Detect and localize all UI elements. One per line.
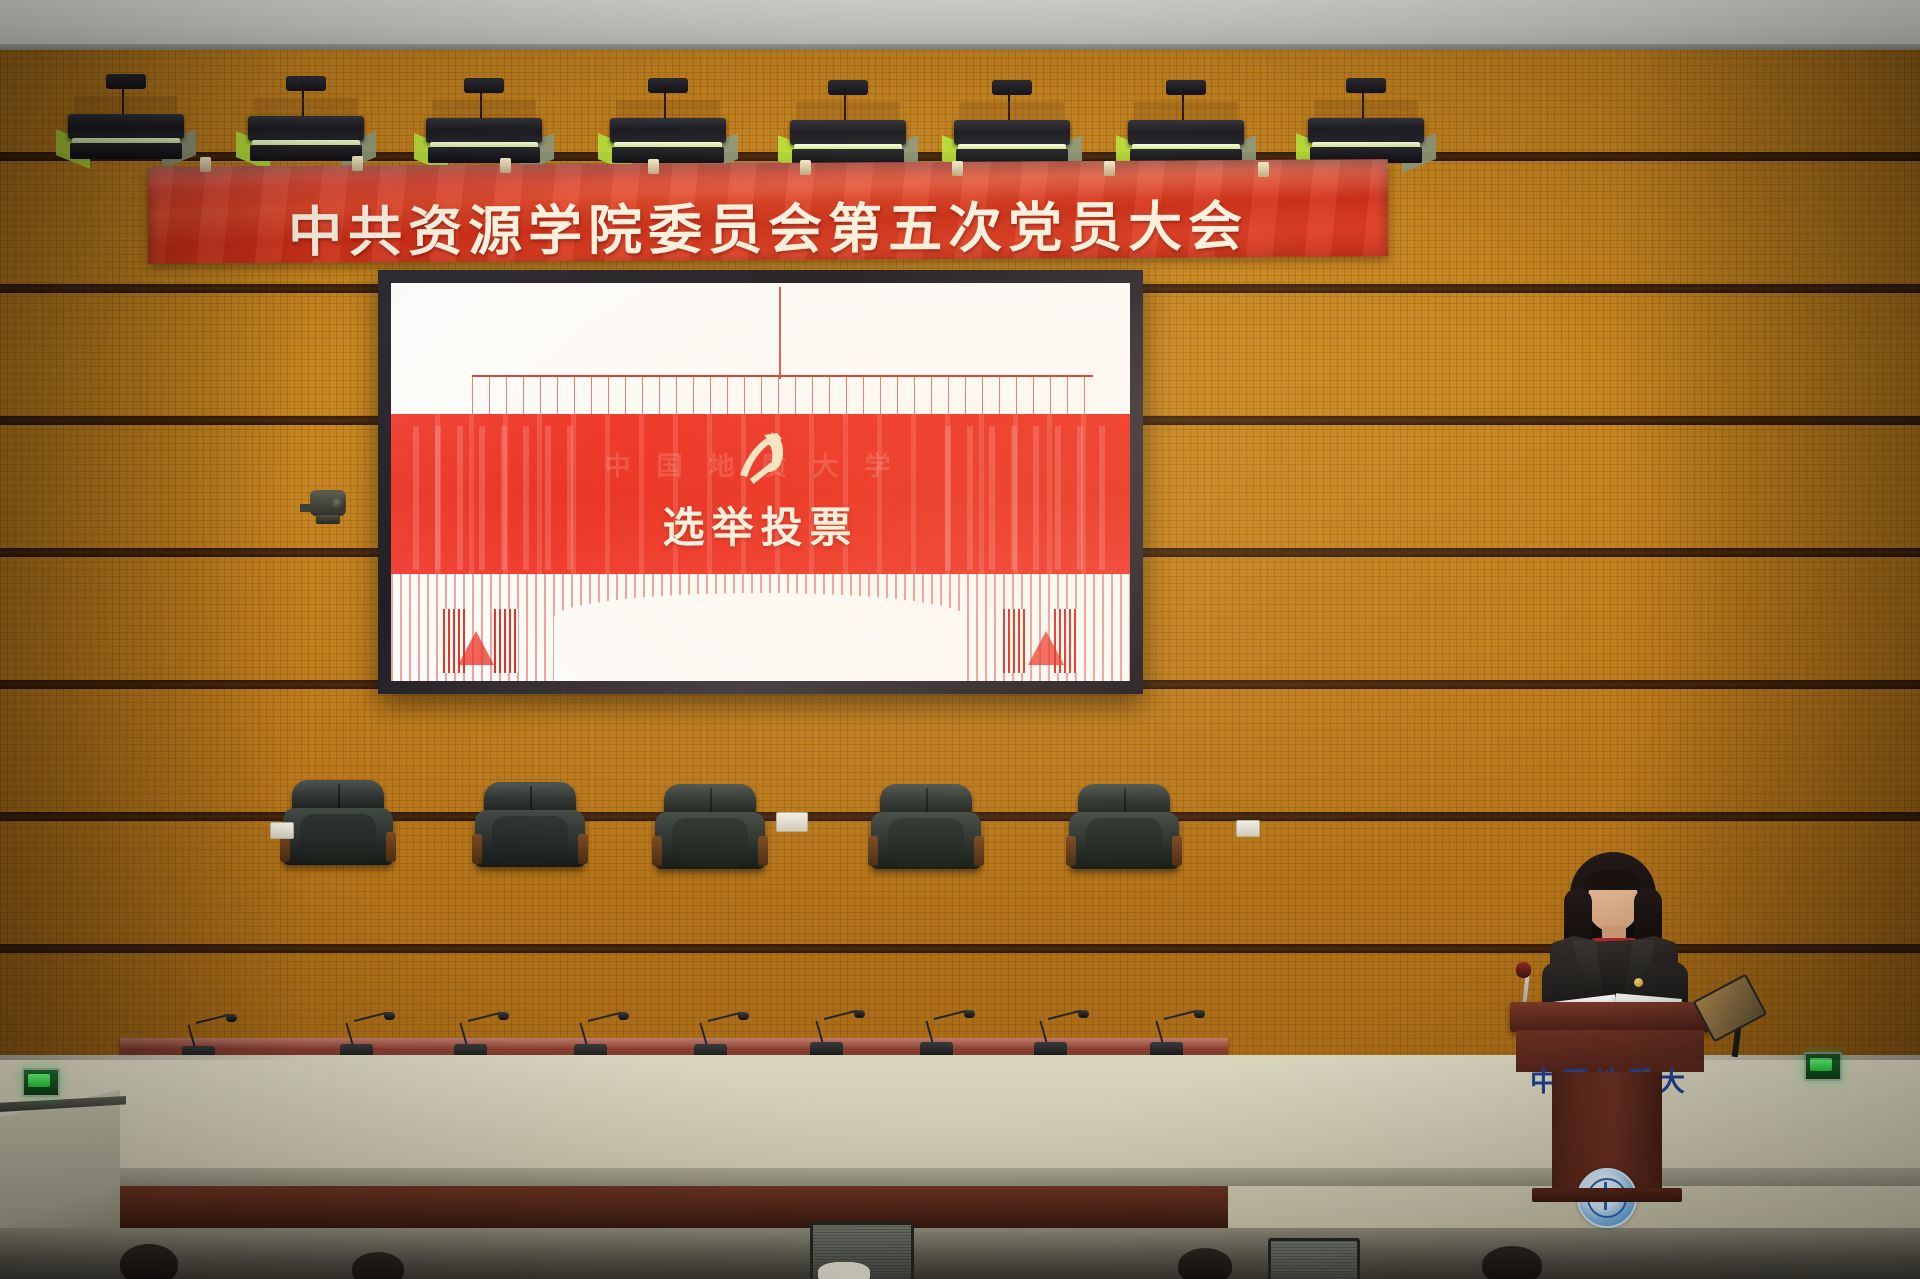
banner-clip [952, 161, 963, 176]
slide-cone [1028, 631, 1064, 665]
banner-clip [800, 160, 811, 175]
lectern-base [1532, 1188, 1682, 1202]
banner-clip [352, 156, 363, 171]
hammer-and-sickle-emblem [728, 428, 794, 484]
camera-base [316, 515, 340, 524]
executive-chair [650, 784, 770, 869]
stage-light-fixture [1126, 88, 1246, 160]
slide-plaza [554, 593, 968, 681]
stage-light-fixture [1306, 86, 1426, 158]
stage-light-fixture [608, 86, 728, 158]
wall-monitor [1700, 985, 1770, 1055]
exit-sign-glow [28, 1074, 50, 1087]
wall-outlet [270, 822, 294, 839]
audience-head [352, 1252, 404, 1279]
gooseneck-microphone [788, 1008, 862, 1060]
chair-arm [386, 832, 396, 862]
event-banner: 中共资源学院委员会第五次党员大会 [148, 159, 1389, 264]
light-underside [70, 143, 182, 159]
stage-light-fixture [66, 82, 186, 154]
speaker-fringe [1586, 870, 1640, 890]
camera-lens-icon [332, 497, 345, 510]
exit-sign-left [22, 1068, 60, 1097]
banner-clip [500, 158, 511, 173]
audience-monitor [1268, 1238, 1360, 1279]
slide-cone [458, 631, 494, 665]
audience-head [120, 1244, 178, 1279]
stage-light-fixture [788, 88, 908, 160]
ptz-camera [300, 490, 346, 524]
projection-screen-frame: 中国地质大学 选举投票 [378, 270, 1143, 694]
banner-clip [648, 159, 659, 174]
lectern-top [1510, 1002, 1710, 1032]
audience-paper [818, 1262, 870, 1279]
banner-clip [1258, 162, 1269, 177]
exit-sign-glow [1810, 1058, 1832, 1071]
chair-back-cushion [300, 814, 376, 862]
audience-head [1178, 1248, 1232, 1279]
stage-light-fixture [424, 86, 544, 158]
light-clamp [106, 74, 146, 89]
audience-head [1482, 1246, 1542, 1279]
slide-building-roofline [472, 375, 1093, 419]
mic-capsule [226, 1014, 237, 1022]
wall-outlet [776, 812, 808, 832]
podium-mic-head [1516, 962, 1531, 978]
executive-chair [866, 784, 986, 869]
gooseneck-microphone [1012, 1008, 1086, 1060]
executive-chair [470, 782, 590, 867]
banner-title: 中共资源学院委员会第五次党员大会 [148, 181, 1388, 268]
executive-chair [1064, 784, 1184, 869]
slide-pillar [494, 609, 518, 673]
mic-gooseneck [196, 1014, 229, 1024]
slide-flagpole [779, 287, 781, 379]
stage-light-fixture [246, 84, 366, 156]
gooseneck-microphone [1128, 1008, 1202, 1060]
projection-screen[interactable]: 中国地质大学 选举投票 [391, 283, 1130, 681]
wall-outlet [1236, 820, 1260, 837]
slide-title: 选举投票 [391, 494, 1130, 555]
stage-light-fixture [952, 88, 1072, 160]
banner-clip [200, 157, 211, 172]
lectern-front-panel: 中国地质大学 [1516, 1030, 1704, 1072]
gooseneck-microphone [898, 1008, 972, 1060]
lectern: 中国地质大学 [1510, 1002, 1710, 1202]
stage-front-panel [118, 1186, 1228, 1230]
executive-chair [278, 780, 398, 865]
lectern-column [1552, 1072, 1662, 1190]
mic-stem [187, 1025, 196, 1049]
slide-pillar [1003, 609, 1027, 673]
banner-clip [1104, 161, 1115, 176]
foreground-floor [0, 1228, 1920, 1279]
conference-hall-scene: 中共资源学院委员会第五次党员大会 中国地质大学 [0, 0, 1920, 1279]
party-pin-icon [1634, 978, 1643, 987]
exit-sign-right [1804, 1052, 1842, 1081]
light-body [68, 114, 184, 139]
